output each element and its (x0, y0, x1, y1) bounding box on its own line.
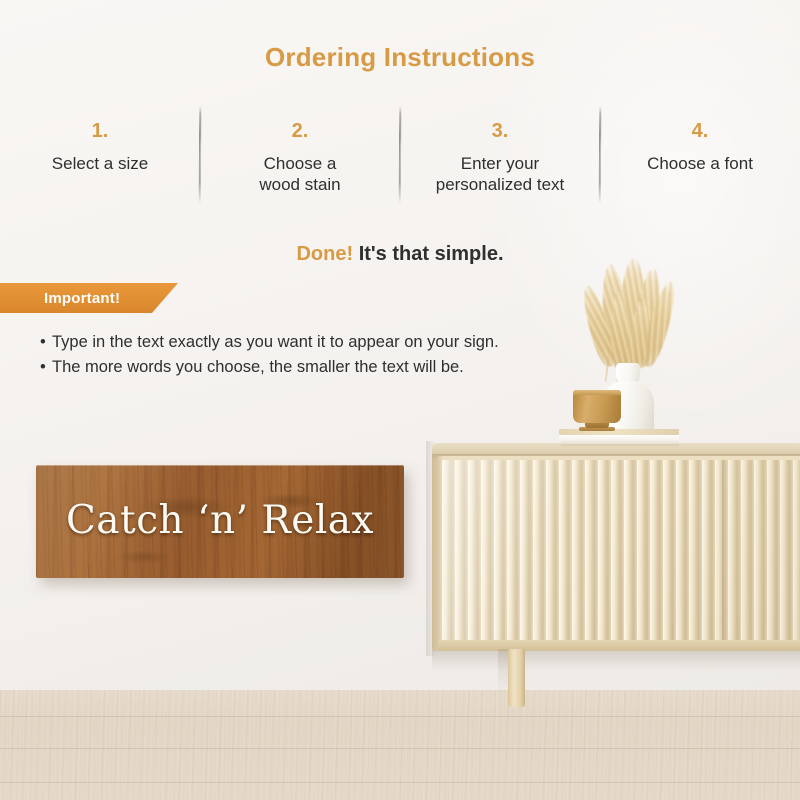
floor-grain-texture (0, 690, 800, 800)
step-label: Select a size (8, 153, 192, 174)
book-pages (559, 434, 679, 444)
list-item: • Type in the text exactly as you want i… (40, 330, 640, 355)
step-label: Enter your personalized text (408, 153, 592, 195)
step-item-1: 1. Select a size (0, 118, 200, 213)
wooden-bowl (573, 390, 621, 432)
bullet-dot-icon: • (40, 355, 52, 380)
step-number: 2. (208, 118, 392, 144)
bullet-dot-icon: • (40, 330, 52, 355)
sideboard-bottom-rail (438, 640, 800, 651)
bullet-text: Type in the text exactly as you want it … (52, 330, 499, 355)
page-title: Ordering Instructions (0, 42, 800, 73)
bullet-text: The more words you choose, the smaller t… (52, 355, 464, 380)
sideboard-sheen (442, 460, 800, 640)
product-listing-image: Catch ‘n’ Relax Ordering Instructions 1.… (0, 0, 800, 800)
bowl-rim (573, 390, 621, 395)
sign-engraved-text: Catch ‘n’ Relax (36, 465, 404, 578)
personalized-wood-sign: Catch ‘n’ Relax (36, 465, 404, 578)
floor-plank-seam (0, 748, 800, 749)
floor-plank-seam (0, 716, 800, 717)
sideboard-leg (508, 649, 525, 707)
done-rest: It's that simple. (353, 243, 503, 265)
important-banner-label: Important! (44, 290, 120, 307)
step-item-3: 3. Enter your personalized text (400, 118, 600, 213)
step-number: 3. (408, 118, 592, 144)
step-number: 1. (8, 118, 192, 144)
done-statement: Done! It's that simple. (0, 243, 800, 266)
step-label: Choose a wood stain (208, 153, 392, 195)
sideboard-door-seam (722, 460, 724, 640)
list-item: • The more words you choose, the smaller… (40, 355, 640, 380)
wood-floor (0, 690, 800, 800)
step-item-4: 4. Choose a font (600, 118, 800, 213)
important-bullet-list: • Type in the text exactly as you want i… (40, 330, 640, 380)
important-ribbon-banner: Important! (0, 283, 178, 313)
ordering-steps-row: 1. Select a size 2. Choose a wood stain … (0, 118, 800, 213)
step-label: Choose a font (608, 153, 792, 174)
sideboard-furniture (432, 443, 800, 656)
step-item-2: 2. Choose a wood stain (200, 118, 400, 213)
floor-plank-seam (0, 782, 800, 783)
step-number: 4. (608, 118, 792, 144)
done-highlight: Done! (296, 243, 353, 265)
